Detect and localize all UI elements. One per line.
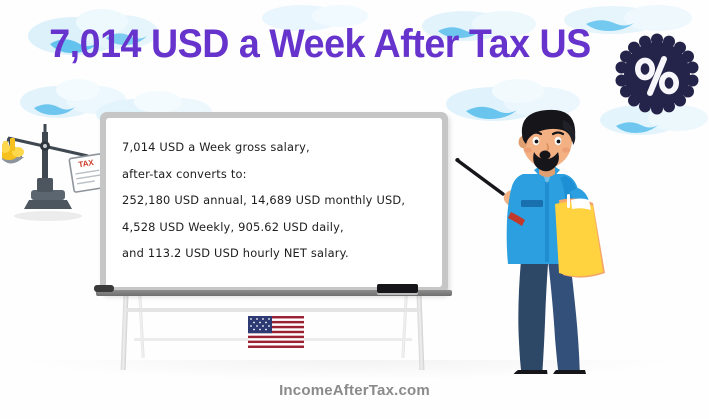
whiteboard-line-1: 7,014 USD a Week gross salary, — [122, 134, 434, 161]
teacher-character — [455, 108, 640, 374]
stand-leg-left-inner — [138, 296, 144, 358]
eraser-icon — [377, 284, 418, 293]
pointer-stick-icon — [456, 158, 503, 194]
whiteboard-line-4: 4,528 USD Weekly, 905.62 USD daily, — [122, 214, 434, 241]
percent-badge-icon — [615, 33, 699, 117]
whiteboard-surface: 7,014 USD a Week gross salary, after-tax… — [106, 118, 442, 287]
infographic-canvas: 7,014 USD a Week After Tax US — [0, 0, 709, 419]
page-title: 7,014 USD a Week After Tax US — [19, 22, 621, 67]
whiteboard-line-5: and 113.2 USD USD hourly NET salary. — [122, 240, 434, 267]
balance-scales-icon: TAX — [2, 112, 110, 224]
whiteboard-text: 7,014 USD a Week gross salary, after-tax… — [122, 134, 434, 267]
us-flag-icon — [248, 316, 304, 348]
yellow-folder-icon — [555, 199, 605, 278]
marker-icon — [94, 285, 114, 292]
site-footer: IncomeAfterTax.com — [0, 382, 709, 399]
stand-leg-right-inner — [401, 296, 407, 358]
whiteboard-line-3: 252,180 USD annual, 14,689 USD monthly U… — [122, 187, 434, 214]
whiteboard: 7,014 USD a Week gross salary, after-tax… — [100, 112, 448, 362]
stand-crossbar-top — [126, 308, 420, 312]
whiteboard-frame: 7,014 USD a Week gross salary, after-tax… — [100, 112, 448, 294]
whiteboard-line-2: after-tax converts to: — [122, 161, 434, 188]
